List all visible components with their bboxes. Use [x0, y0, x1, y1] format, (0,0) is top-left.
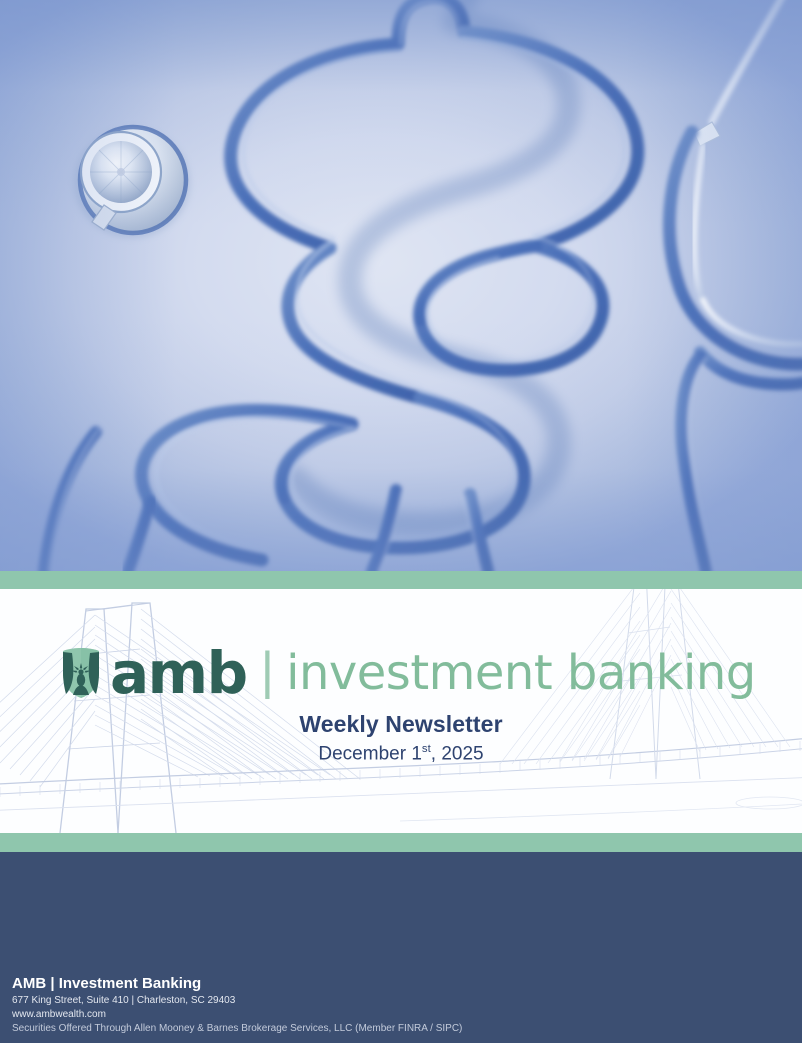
issue-date-ordinal: st — [422, 743, 431, 755]
issue-date: December 1st, 2025 — [0, 743, 802, 766]
hero-image — [0, 0, 802, 571]
issue-date-day: December 1 — [318, 743, 422, 764]
issue-date-year: , 2025 — [431, 743, 484, 764]
footer-disclosure: Securities Offered Through Allen Mooney … — [12, 1022, 462, 1036]
footer-content: AMB | Investment Banking 677 King Street… — [12, 974, 462, 1036]
brand-logo: amb | investment banking — [60, 644, 756, 702]
title-block: Weekly Newsletter December 1st, 2025 — [0, 710, 802, 766]
green-divider-bottom — [0, 833, 802, 852]
logo-tagline: investment banking — [286, 649, 756, 697]
footer-address: 677 King Street, Suite 410 | Charleston,… — [12, 994, 462, 1008]
tube-shadow — [296, 0, 569, 524]
logo-wordmark: amb — [110, 644, 247, 702]
green-divider-top — [0, 571, 802, 589]
left-lower-tube — [128, 502, 150, 571]
logo-divider: | — [261, 645, 275, 697]
page-title: Weekly Newsletter — [0, 710, 802, 739]
newsletter-cover-page: amb | investment banking Weekly Newslett… — [0, 0, 802, 1043]
right-tube-loop — [670, 132, 802, 571]
footer-company-name: AMB | Investment Banking — [12, 974, 462, 994]
footer-website[interactable]: www.ambwealth.com — [12, 1008, 462, 1022]
footer: AMB | Investment Banking 677 King Street… — [0, 852, 802, 1043]
shield-palmetto-icon — [60, 647, 102, 699]
stethoscope-chestpiece — [74, 127, 190, 238]
stethoscope-illustration — [0, 0, 802, 571]
right-ear-tube — [694, 0, 802, 344]
